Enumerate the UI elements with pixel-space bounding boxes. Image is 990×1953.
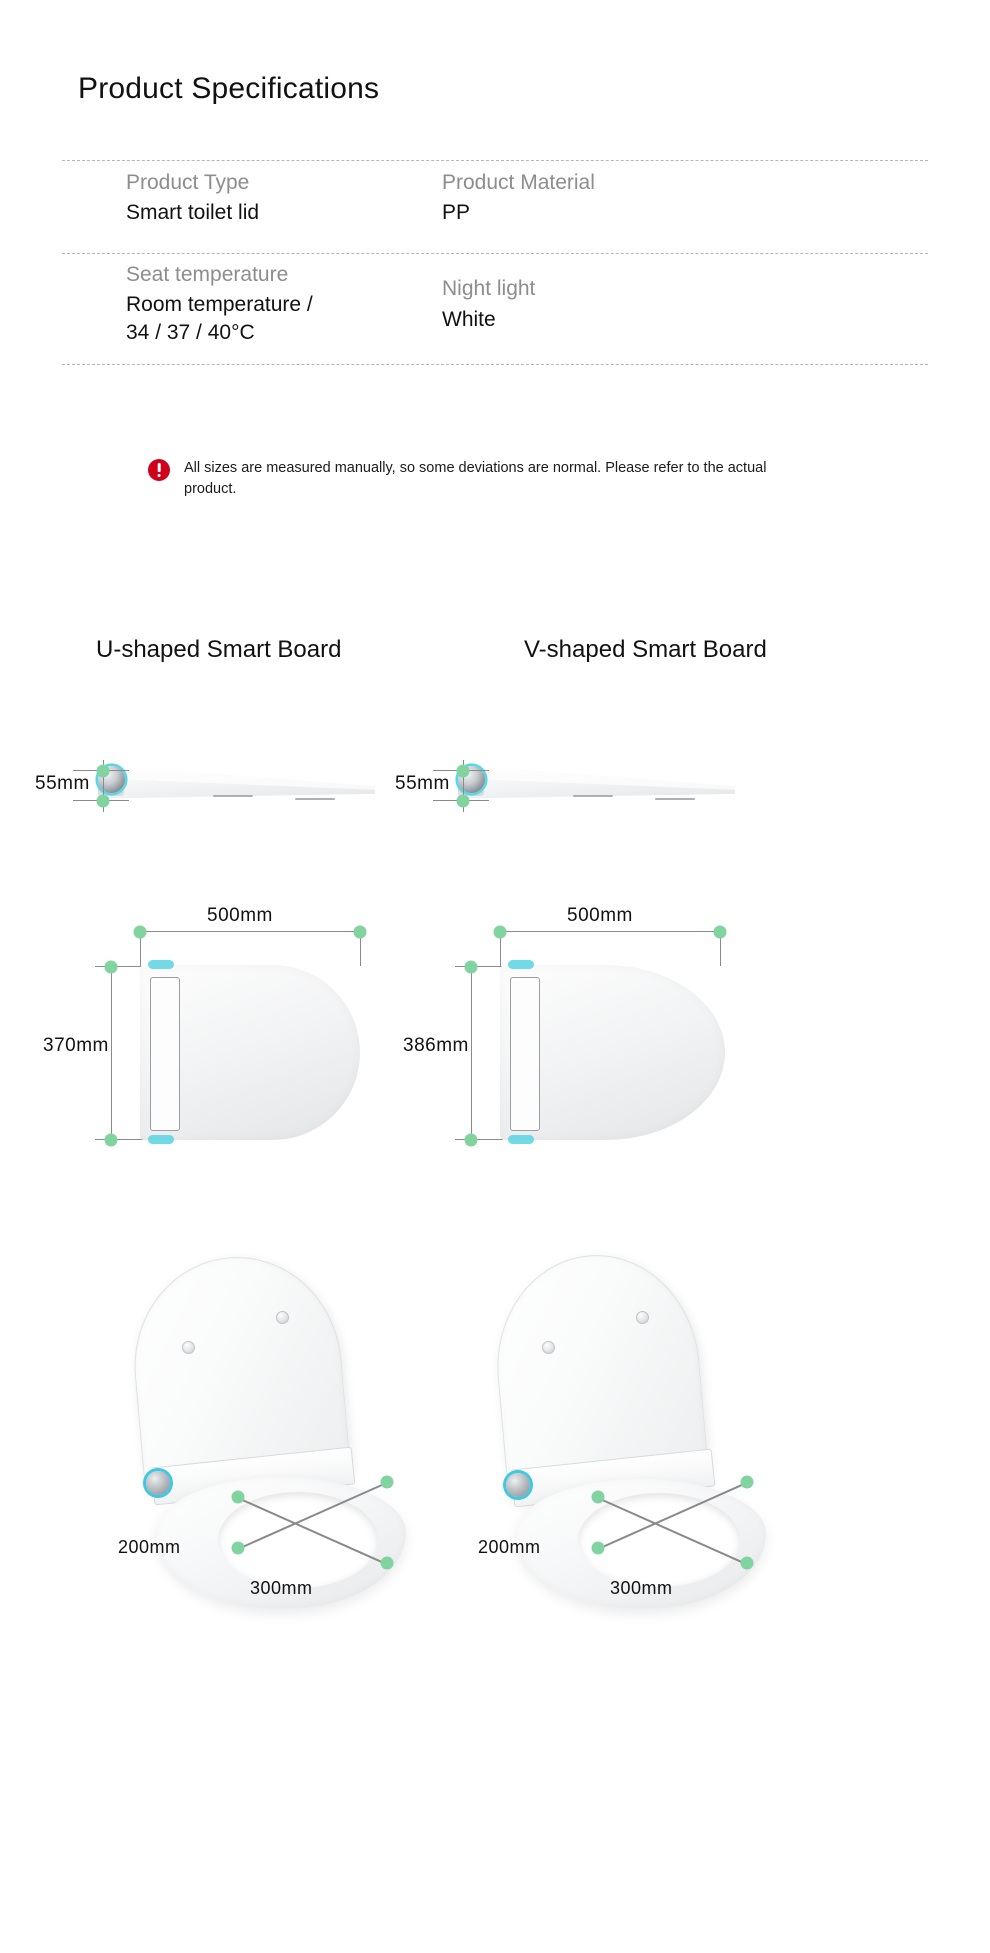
lid-bumper — [182, 1341, 195, 1354]
measurement-notice: All sizes are measured manually, so some… — [148, 458, 788, 499]
v-top-width-label: 500mm — [567, 905, 633, 927]
dim-depth-line — [471, 966, 472, 1139]
dim-marker — [354, 925, 367, 938]
spec-value: Room temperature / 34 / 37 / 40°C — [126, 288, 434, 346]
u-shaped-board-heading: U-shaped Smart Board — [96, 636, 341, 664]
control-panel-outline — [150, 977, 180, 1131]
notice-text: All sizes are measured manually, so some… — [184, 458, 788, 499]
spec-label: Product Type — [126, 161, 434, 196]
seat-opening — [218, 1492, 378, 1588]
dim-tick-bottom — [455, 1139, 503, 1140]
v-3d-view-diagram: 200mm 300mm — [450, 1245, 790, 1605]
dim-depth-line — [111, 966, 112, 1139]
dim-marker — [381, 1557, 394, 1570]
u-side-view-diagram: 55mm — [75, 760, 375, 810]
lid-foot-pad — [573, 795, 613, 797]
u-seat-short-label: 200mm — [118, 1537, 181, 1558]
spec-label: Seat temperature — [126, 254, 434, 288]
hinge-knob-icon — [146, 1471, 170, 1495]
hinge-accent — [508, 960, 534, 969]
dim-marker — [741, 1557, 754, 1570]
u-top-view-diagram: 500mm 370mm — [55, 845, 385, 1155]
spec-value: Smart toilet lid — [126, 196, 434, 226]
lid-bumper — [276, 1311, 289, 1324]
dim-marker — [465, 960, 478, 973]
spec-cell-product-material: Product Material PP — [434, 161, 864, 253]
spec-table: Product Type Smart toilet lid Product Ma… — [62, 160, 928, 365]
dim-width-line — [500, 931, 720, 932]
u-seat-long-label: 300mm — [250, 1578, 313, 1599]
exclamation-circle-icon — [148, 459, 170, 481]
dim-marker — [232, 1491, 245, 1504]
dim-tick-top — [455, 966, 503, 967]
dim-marker — [457, 764, 470, 777]
dim-marker — [381, 1476, 394, 1489]
dim-marker — [494, 925, 507, 938]
dim-marker — [97, 794, 110, 807]
v-top-depth-label: 386mm — [403, 1035, 469, 1057]
dim-marker — [232, 1542, 245, 1555]
hinge-accent — [508, 1135, 534, 1144]
spec-cell-product-type: Product Type Smart toilet lid — [62, 161, 434, 253]
spec-cell-night-light: Night light White — [434, 254, 864, 364]
u-3d-view-diagram: 200mm 300mm — [90, 1245, 430, 1605]
lid-foot-pad — [655, 798, 695, 800]
u-side-height-label: 55mm — [35, 773, 90, 795]
dim-marker — [105, 1133, 118, 1146]
hinge-accent — [148, 1135, 174, 1144]
hinge-knob-icon — [506, 1473, 530, 1497]
v-shaped-board-heading: V-shaped Smart Board — [524, 636, 767, 664]
hinge-accent — [148, 960, 174, 969]
page-title: Product Specifications — [78, 72, 379, 106]
dim-marker — [741, 1476, 754, 1489]
lid-bumper — [636, 1311, 649, 1324]
dim-marker — [592, 1491, 605, 1504]
spec-value: White — [442, 302, 864, 333]
dim-marker — [97, 764, 110, 777]
dim-marker — [592, 1542, 605, 1555]
lid-foot-pad — [213, 795, 253, 797]
dim-tick-top — [95, 966, 143, 967]
control-panel-outline — [510, 977, 540, 1131]
u-top-depth-label: 370mm — [43, 1035, 109, 1057]
dim-marker — [457, 794, 470, 807]
spec-label: Night light — [442, 254, 864, 302]
spec-label: Product Material — [442, 161, 864, 196]
spec-cell-seat-temperature: Seat temperature Room temperature / 34 /… — [62, 254, 434, 364]
lid-bumper — [542, 1341, 555, 1354]
v-side-height-label: 55mm — [395, 773, 450, 795]
dim-marker — [134, 925, 147, 938]
dim-tick-bottom — [95, 1139, 143, 1140]
u-side-profile — [95, 764, 375, 800]
dim-marker — [105, 960, 118, 973]
spec-divider-bottom — [62, 364, 928, 365]
spec-row: Seat temperature Room temperature / 34 /… — [62, 254, 928, 364]
dim-width-line — [140, 931, 360, 932]
dim-marker — [714, 925, 727, 938]
v-seat-long-label: 300mm — [610, 1578, 673, 1599]
seat-opening — [578, 1493, 740, 1587]
v-side-view-diagram: 55mm — [435, 760, 735, 810]
u-top-width-label: 500mm — [207, 905, 273, 927]
v-seat-short-label: 200mm — [478, 1537, 541, 1558]
v-side-profile — [455, 764, 735, 800]
spec-value: PP — [442, 196, 864, 226]
spec-row: Product Type Smart toilet lid Product Ma… — [62, 161, 928, 253]
dim-marker — [465, 1133, 478, 1146]
lid-foot-pad — [295, 798, 335, 800]
v-top-view-diagram: 500mm 386mm — [415, 845, 745, 1155]
